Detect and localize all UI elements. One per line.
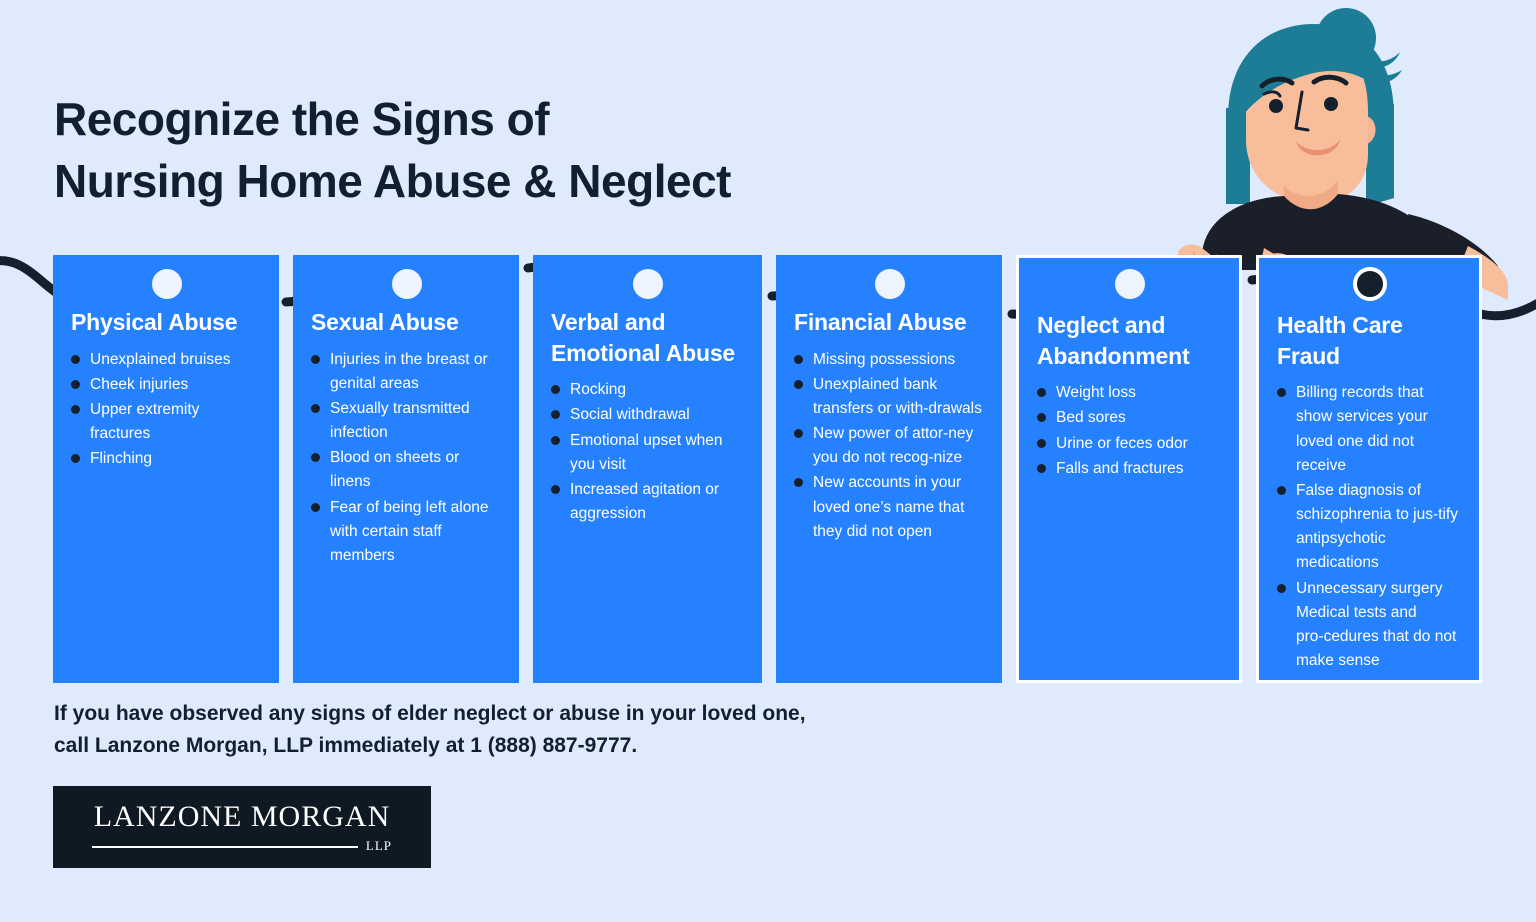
list-item: Missing possessions — [794, 348, 984, 372]
card-financial-abuse[interactable]: Financial Abuse Missing possessions Unex… — [776, 255, 1002, 683]
card-title: Financial Abuse — [794, 307, 984, 338]
card-title: Verbal and Emotional Abuse — [551, 307, 744, 368]
card-sign-list: Rocking Social withdrawal Emotional upse… — [551, 378, 744, 526]
page-title: Recognize the Signs of Nursing Home Abus… — [54, 88, 1034, 212]
card-verbal-emotional-abuse[interactable]: Verbal and Emotional Abuse Rocking Socia… — [533, 255, 762, 683]
call-to-action-text: If you have observed any signs of elder … — [54, 698, 1004, 762]
card-sign-list: Injuries in the breast or genital areas … — [311, 348, 501, 569]
logo-rule-row: LLP — [92, 839, 392, 852]
list-item: Falls and fractures — [1037, 457, 1221, 481]
card-marker-icon — [152, 269, 182, 299]
list-item: Urine or feces odor — [1037, 432, 1221, 456]
list-item: Billing records that show services your … — [1277, 381, 1461, 478]
cta-line-2: call Lanzone Morgan, LLP immediately at … — [54, 730, 1004, 762]
card-title: Physical Abuse — [71, 307, 261, 338]
list-item: Flinching — [71, 447, 261, 471]
signs-card-grid: Physical Abuse Unexplained bruises Cheek… — [0, 255, 1536, 685]
card-neglect-abandonment[interactable]: Neglect and Abandonment Weight loss Bed … — [1016, 255, 1242, 683]
card-physical-abuse[interactable]: Physical Abuse Unexplained bruises Cheek… — [53, 255, 279, 683]
card-marker-icon-filled — [1353, 267, 1387, 301]
list-item: New power of attor‑ney you do not recog‑… — [794, 422, 984, 470]
list-item: Increased agitation or aggression — [551, 478, 744, 526]
lanzone-morgan-logo[interactable]: LANZONE MORGAN LLP — [53, 786, 431, 868]
card-sexual-abuse[interactable]: Sexual Abuse Injuries in the breast or g… — [293, 255, 519, 683]
card-title: Health Care Fraud — [1277, 310, 1461, 371]
card-marker-icon — [392, 269, 422, 299]
list-item: Blood on sheets or linens — [311, 446, 501, 494]
list-item: Rocking — [551, 378, 744, 402]
card-title: Neglect and Abandonment — [1037, 310, 1221, 371]
list-item: Unexplained bruises — [71, 348, 261, 372]
card-marker-icon — [633, 269, 663, 299]
card-marker-icon — [1115, 269, 1145, 299]
logo-firm-name: LANZONE MORGAN — [94, 802, 390, 832]
card-sign-list: Missing possessions Unexplained bank tra… — [794, 348, 984, 544]
card-title: Sexual Abuse — [311, 307, 501, 338]
list-item: New accounts in your loved one’s name th… — [794, 471, 984, 544]
list-item: Sexually transmitted infection — [311, 397, 501, 445]
page-title-line-1: Recognize the Signs of — [54, 88, 1034, 150]
card-sign-list: Weight loss Bed sores Urine or feces odo… — [1037, 381, 1221, 481]
list-item: Unexplained bank transfers or with‑drawa… — [794, 373, 984, 421]
list-item: Emotional upset when you visit — [551, 429, 744, 477]
list-item: Social withdrawal — [551, 403, 744, 427]
list-item: False diagnosis of schizophrenia to jus‑… — [1277, 479, 1461, 576]
list-item: Injuries in the breast or genital areas — [311, 348, 501, 396]
logo-suffix: LLP — [366, 839, 392, 852]
list-item: Bed sores — [1037, 406, 1221, 430]
page-title-line-2: Nursing Home Abuse & Neglect — [54, 150, 1034, 212]
list-item: Upper extremity fractures — [71, 398, 261, 446]
list-item: Fear of being left alone with certain st… — [311, 496, 501, 569]
list-item: Weight loss — [1037, 381, 1221, 405]
card-health-care-fraud[interactable]: Health Care Fraud Billing records that s… — [1256, 255, 1482, 683]
list-item: Cheek injuries — [71, 373, 261, 397]
card-sign-list: Billing records that show services your … — [1277, 381, 1461, 673]
card-sign-list: Unexplained bruises Cheek injuries Upper… — [71, 348, 261, 472]
cta-line-1: If you have observed any signs of elder … — [54, 698, 1004, 730]
list-item: Unnecessary surgery Medical tests and pr… — [1277, 577, 1461, 674]
logo-divider — [92, 846, 358, 848]
card-marker-icon — [875, 269, 905, 299]
